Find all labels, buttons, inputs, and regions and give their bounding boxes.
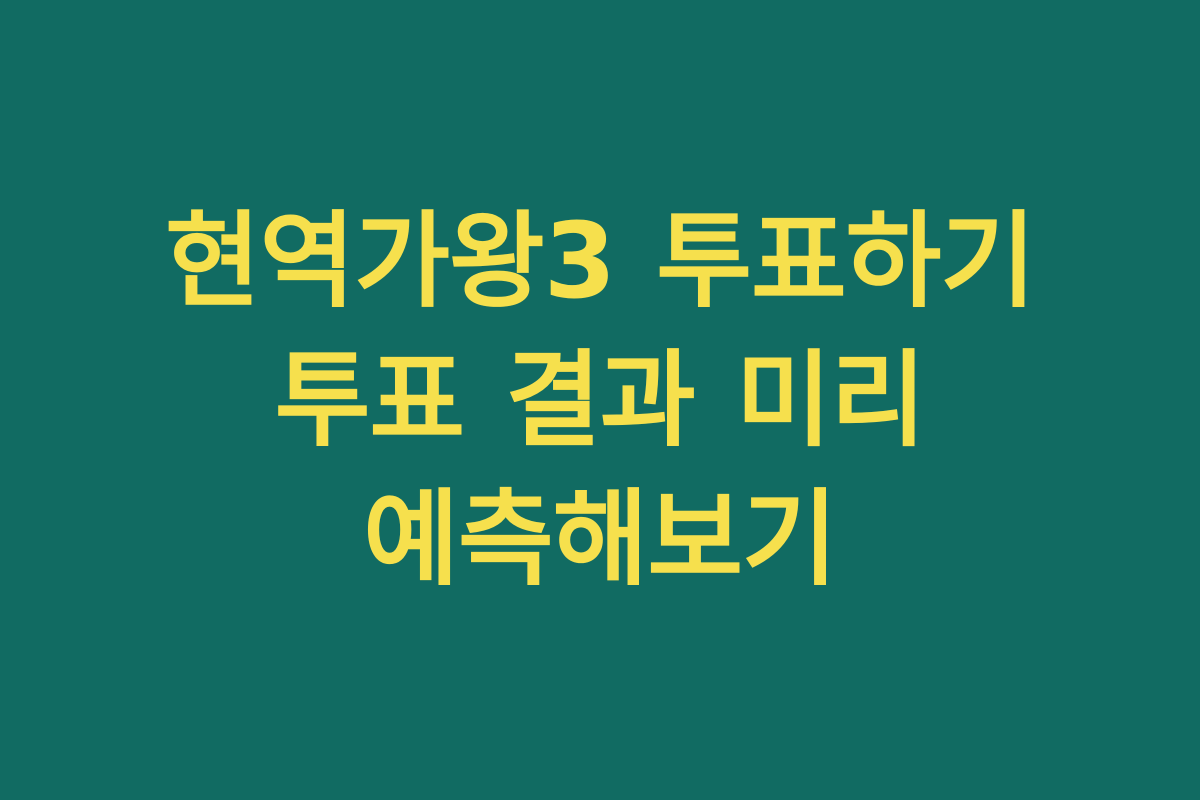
banner-canvas: 현역가왕3 투표하기 투표 결과 미리 예측해보기 bbox=[0, 0, 1200, 800]
page-title: 현역가왕3 투표하기 투표 결과 미리 예측해보기 bbox=[70, 192, 1130, 609]
